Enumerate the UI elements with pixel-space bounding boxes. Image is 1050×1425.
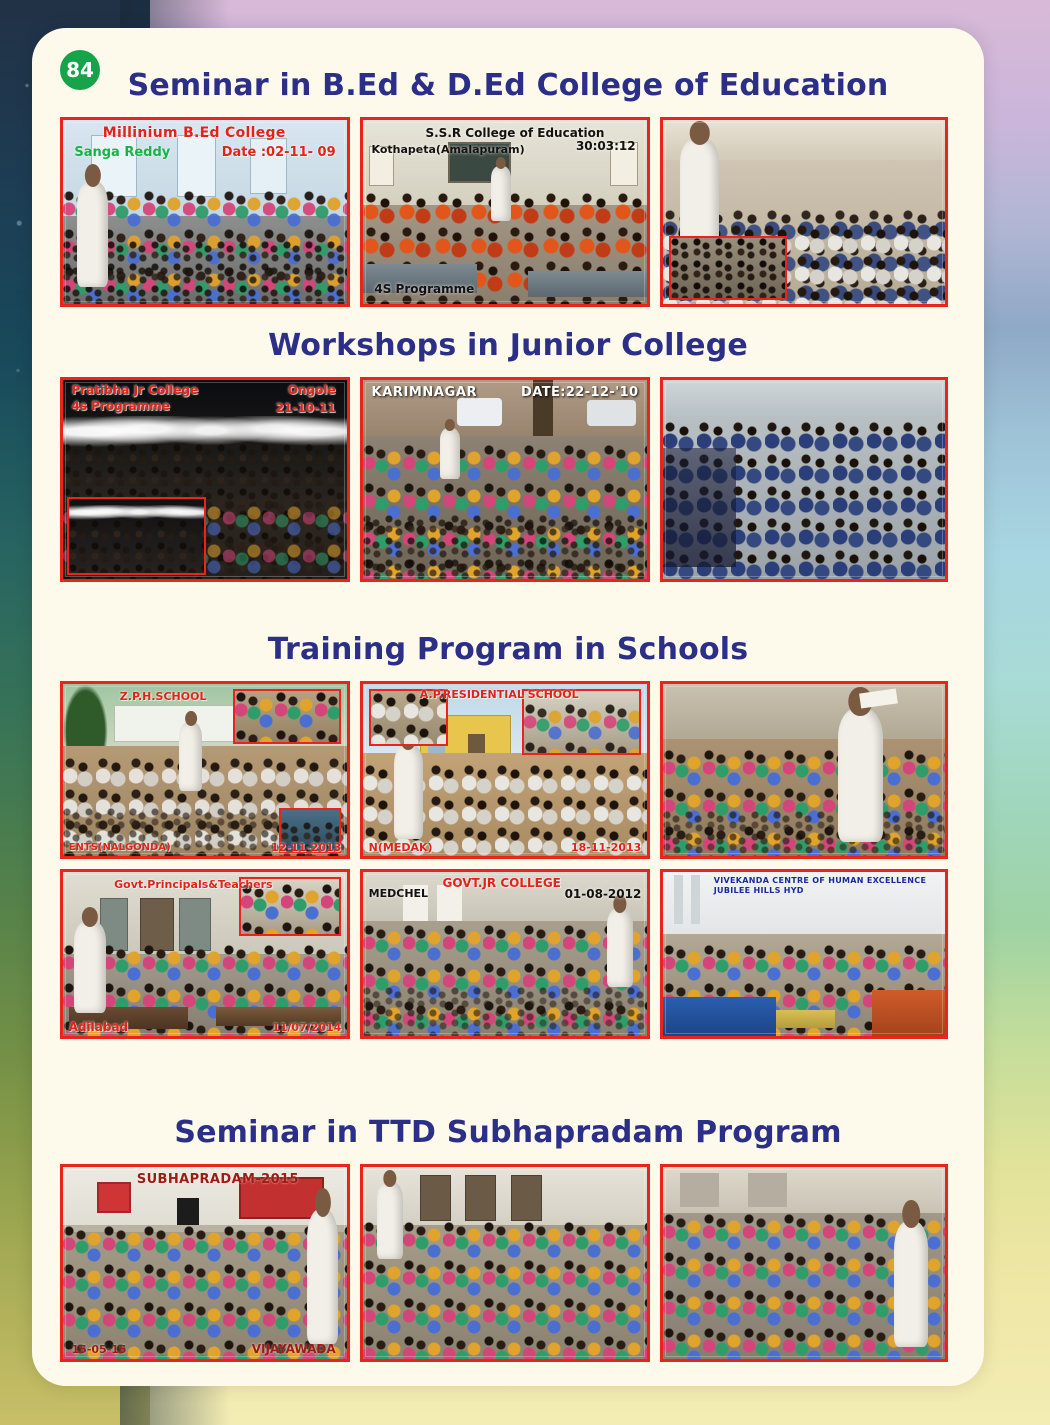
photo-caption: 01-08-2012 [565,888,642,900]
photo-caption: 18-11-2013 [571,842,641,853]
photo-caption: Date :02-11- 09 [222,146,336,159]
photo-scene [663,1167,945,1359]
photo-ssr-college-of-education[interactable]: S.S.R College of Education Kothapeta(Ama… [360,117,650,307]
photo-caption: Kothapeta(Amalapuram) [372,144,525,155]
photo-row: Govt.Principals&Teachers Adilabad 11/07/… [32,869,984,1039]
photo-girls-school-workshop[interactable] [660,377,948,582]
photo-millinium-bed-college[interactable]: Millinium B.Ed College Sanga Reddy Date … [60,117,350,307]
photo-caption: Sanga Reddy [74,146,170,159]
photo-karimnagar-workshop[interactable]: KARIMNAGAR DATE:22-12-'10 [360,377,650,582]
photo-scene [63,1167,347,1359]
photo-zph-school-nalgonda[interactable]: Z.P.H.SCHOOL ENTS(NALGONDA) 12-11-2013 [60,681,350,859]
photo-vivekananda-centre-jubilee-hills[interactable]: VIVEKANDA CENTRE OF HUMAN EXCELLENCE JUB… [660,869,948,1039]
section-title: Workshops in Junior College [32,328,984,363]
photo-subhapradam-2015-vijayawada[interactable]: SUBHAPRADAM-2015 15-05-15 VIJAYAWADA [60,1164,350,1362]
photo-subhapradam-hall-session[interactable] [360,1164,650,1362]
photo-school-assembly-seminar[interactable] [660,117,948,307]
photo-scene [363,1167,647,1359]
photo-caption: Ongole [288,384,336,396]
photo-row: Pratibha Jr College 4s Programme Ongole … [32,377,984,582]
photo-inset [669,236,787,300]
photo-row: Millinium B.Ed College Sanga Reddy Date … [32,117,984,307]
photo-caption: 15-05-15 [72,1344,127,1355]
photo-caption: Millinium B.Ed College [103,126,286,140]
photo-govt-jr-college-medchel[interactable]: GOVT.JR COLLEGE MEDCHEL 01-08-2012 [360,869,650,1039]
photo-inset [233,689,341,744]
photo-caption: 21-10-11 [276,402,336,414]
section-bed-ded: Seminar in B.Ed & D.Ed College of Educat… [32,68,984,307]
photo-caption: Govt.Principals&Teachers [114,879,273,890]
photo-caption: 4s Programme [72,400,170,412]
photo-caption: Adilabad [69,1021,128,1033]
section-title: Training Program in Schools [32,632,984,667]
photo-subhapradam-audience-session[interactable] [660,1164,948,1362]
section-title: Seminar in B.Ed & D.Ed College of Educat… [32,68,984,103]
section-junior-college: Workshops in Junior College Pratibha Jr … [32,328,984,582]
photo-ap-residential-school-medak[interactable]: A.P.RESIDENTIAL SCHOOL N(MEDAK) 18-11-20… [360,681,650,859]
photo-caption: S.S.R College of Education [425,127,604,139]
photo-caption: 4S Programme [374,283,474,295]
page-card: 84 Seminar in B.Ed & D.Ed College of Edu… [32,28,984,1386]
photo-caption: ENTS(NALGONDA) [69,843,171,853]
photo-caption: MEDCHEL [369,888,428,899]
photo-caption: DATE:22-12-'10 [521,386,638,399]
photo-caption: Z.P.H.SCHOOL [120,691,207,702]
photo-scene [663,380,945,579]
photo-row: SUBHAPRADAM-2015 15-05-15 VIJAYAWADA [32,1164,984,1362]
section-title: Seminar in TTD Subhapradam Program [32,1115,984,1150]
photo-caption: N(MEDAK) [369,842,433,853]
page-number-badge: 84 [60,50,100,90]
photo-caption: VIVEKANDA CENTRE OF HUMAN EXCELLENCE [714,877,926,885]
photo-caption: 30:03:12 [576,140,636,152]
photo-outdoor-training-session[interactable] [660,681,948,859]
section-training-schools: Training Program in Schools Z.P.H.SCHOOL… [32,632,984,1039]
photo-row: Z.P.H.SCHOOL ENTS(NALGONDA) 12-11-2013 [32,681,984,859]
section-ttd-subhapradam: Seminar in TTD Subhapradam Program SUBHA… [32,1115,984,1362]
photo-inset [67,497,206,575]
photo-scene [663,684,945,856]
photo-caption: SUBHAPRADAM-2015 [137,1173,299,1186]
photo-scene [363,380,647,579]
photo-caption: VIJAYAWADA [252,1343,336,1355]
photo-scene [663,872,945,1036]
photo-caption: KARIMNAGAR [372,386,478,399]
photo-caption: 11/07/2014 [272,1022,341,1033]
photo-pratibha-jr-college-ongole[interactable]: Pratibha Jr College 4s Programme Ongole … [60,377,350,582]
photo-caption: 12-11-2013 [271,842,341,853]
photo-caption: GOVT.JR COLLEGE [443,877,561,889]
photo-caption: Pratibha Jr College [72,384,199,396]
photo-govt-principals-teachers-adilabad[interactable]: Govt.Principals&Teachers Adilabad 11/07/… [60,869,350,1039]
photo-caption: JUBILEE HILLS HYD [714,887,804,895]
photo-caption: A.P.RESIDENTIAL SCHOOL [420,689,579,700]
